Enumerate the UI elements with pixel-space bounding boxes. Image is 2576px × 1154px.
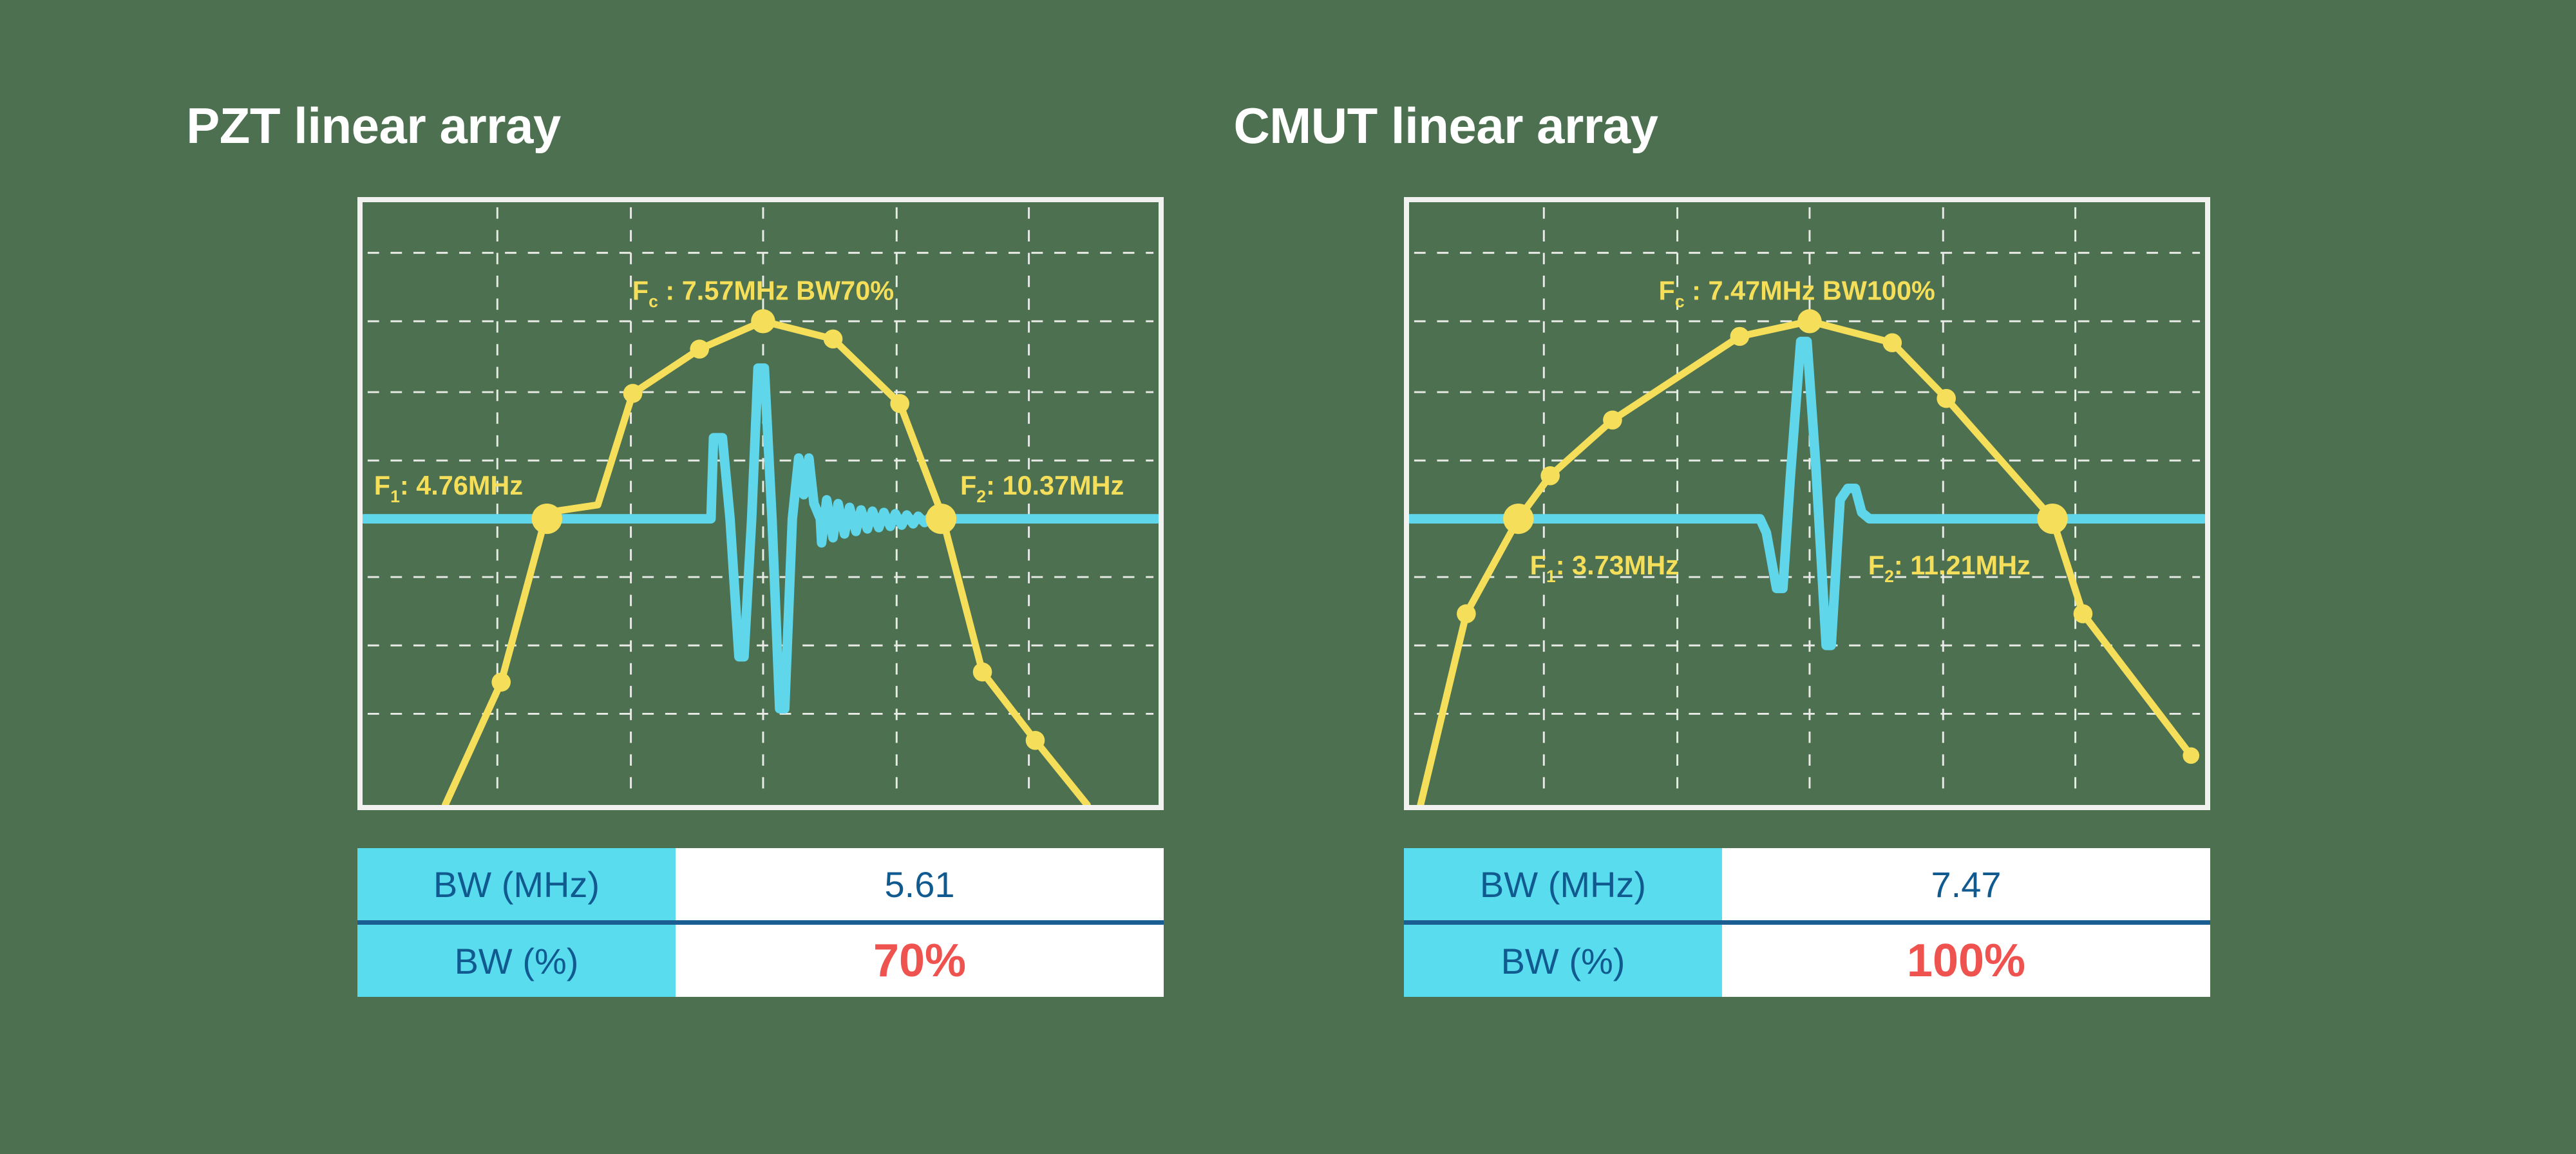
plot-cmut: Fc : 7.47MHz BW100% F1: 3.73MHz F2: 11.2… bbox=[1409, 202, 2205, 805]
table-cell-value-bw-pct-cmut: 100% bbox=[1722, 923, 2210, 998]
plot-frame-cmut: Fc : 7.47MHz BW100% F1: 3.73MHz F2: 11.2… bbox=[1404, 197, 2210, 810]
table-cell-value-bw-mhz-cmut: 7.47 bbox=[1722, 848, 2210, 923]
table-cell-label-bw-pct-pzt: BW (%) bbox=[357, 923, 676, 998]
figure-root: PZT linear array bbox=[0, 0, 2576, 1154]
table-cell-label-bw-pct-cmut: BW (%) bbox=[1404, 923, 1722, 998]
point-fc-pzt bbox=[751, 309, 775, 333]
table-cell-label-bw-mhz-pzt: BW (MHz) bbox=[357, 848, 676, 923]
panel-cmut: CMUT linear array bbox=[1043, 0, 2299, 1154]
impulse-waveform-pzt bbox=[364, 368, 1157, 709]
point-f2-cmut bbox=[2037, 504, 2067, 534]
impulse-waveform-cmut bbox=[1410, 341, 2204, 645]
point-f2-pzt bbox=[926, 504, 956, 534]
annotation-f1-cmut: F1: 3.73MHz bbox=[1530, 551, 1679, 586]
point-f1-cmut bbox=[1503, 504, 1533, 534]
table-row: BW (MHz) 7.47 bbox=[1404, 848, 2210, 923]
highlight-points-pzt bbox=[532, 309, 956, 534]
results-table-cmut: BW (MHz) 7.47 BW (%) 100% bbox=[1404, 848, 2210, 997]
plot-pzt: Fc : 7.57MHz BW70% F1: 4.76MHz F2: 10.37… bbox=[363, 202, 1159, 805]
annotation-fc-cmut: Fc : 7.47MHz BW100% bbox=[1659, 276, 1935, 311]
point-fc-cmut bbox=[1797, 309, 1822, 333]
point-f1-pzt bbox=[532, 504, 562, 534]
annotation-f1-pzt: F1: 4.76MHz bbox=[374, 471, 523, 506]
table-cell-label-bw-mhz-cmut: BW (MHz) bbox=[1404, 848, 1722, 923]
bandwidth-markers-cmut bbox=[1457, 310, 2199, 764]
table-row: BW (%) 100% bbox=[1404, 923, 2210, 998]
panel-title-cmut: CMUT linear array bbox=[818, 97, 2074, 155]
annotation-f2-cmut: F2: 11.21MHz bbox=[1868, 551, 2031, 586]
